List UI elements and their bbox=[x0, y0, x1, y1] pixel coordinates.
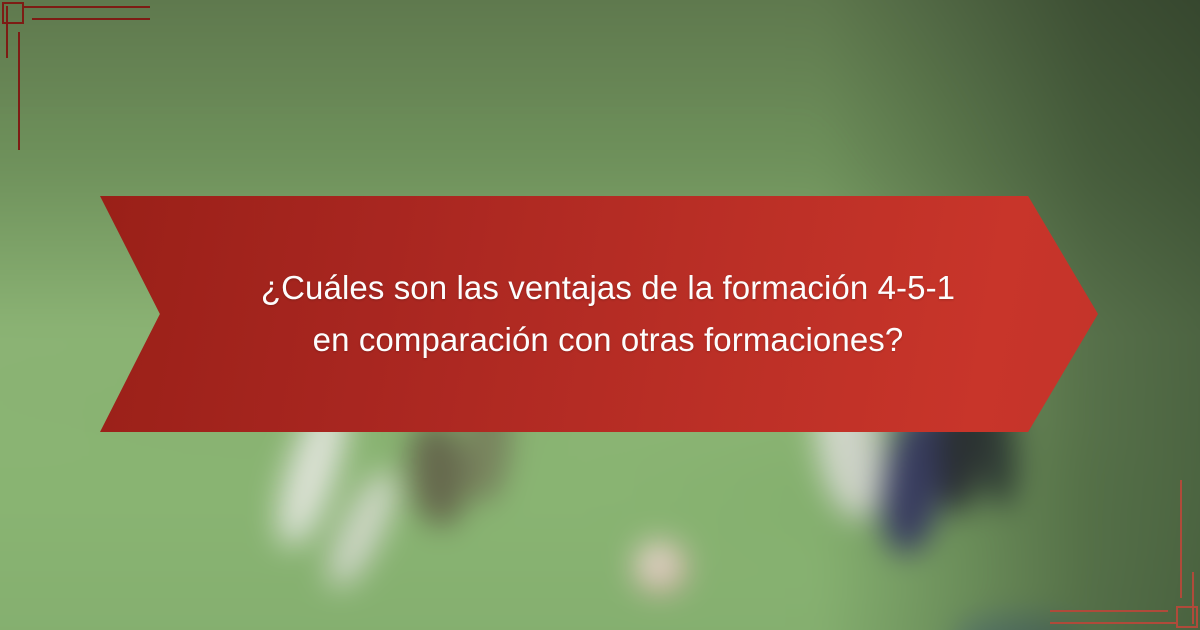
ornament-line-vertical bbox=[1180, 480, 1182, 598]
headline-text: ¿Cuáles son las ventajas de la formación… bbox=[261, 262, 955, 366]
ornament-line-horizontal bbox=[22, 6, 150, 8]
ornament-line-vertical bbox=[18, 32, 20, 150]
ornament-line-horizontal bbox=[1050, 622, 1178, 624]
ornament-square bbox=[1176, 606, 1198, 628]
ornament-line-horizontal bbox=[1050, 610, 1168, 612]
corner-ornament-bottom-right-icon bbox=[1050, 480, 1200, 630]
headline-ribbon: ¿Cuáles son las ventajas de la formación… bbox=[100, 196, 1098, 432]
ornament-square bbox=[2, 2, 24, 24]
corner-ornament-top-left-icon bbox=[0, 0, 150, 150]
headline-line-2: en comparación con otras formaciones? bbox=[261, 314, 955, 366]
banner-card: ¿Cuáles son las ventajas de la formación… bbox=[0, 0, 1200, 630]
headline-line-1: ¿Cuáles son las ventajas de la formación… bbox=[261, 262, 955, 314]
ornament-line-horizontal bbox=[32, 18, 150, 20]
